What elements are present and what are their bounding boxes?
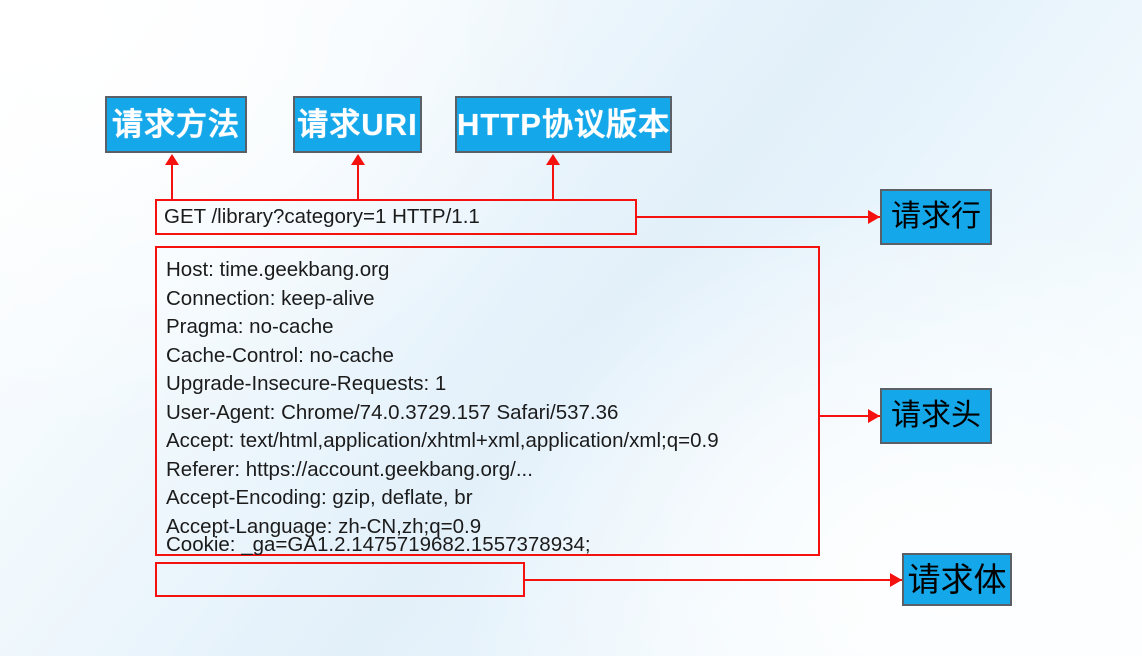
diagram-canvas: 请求方法 请求URI HTTP协议版本 GET /library?categor… xyxy=(0,0,1142,656)
label-request-line-text: 请求行 xyxy=(891,202,981,232)
label-request-method: 请求方法 xyxy=(105,96,247,153)
header-line: Accept: text/html,application/xhtml+xml,… xyxy=(166,427,719,456)
label-request-uri-text: 请求URI xyxy=(297,109,417,140)
header-line: Cache-Control: no-cache xyxy=(166,342,394,371)
label-request-body: 请求体 xyxy=(902,553,1012,606)
header-line: Upgrade-Insecure-Requests: 1 xyxy=(166,370,446,399)
arrow-head-method-icon xyxy=(165,154,179,165)
connector-line-version xyxy=(552,164,554,200)
header-line: Connection: keep-alive xyxy=(166,285,375,314)
arrow-head-request-body-icon xyxy=(890,573,902,587)
header-line: User-Agent: Chrome/74.0.3729.157 Safari/… xyxy=(166,399,618,428)
label-request-method-text: 请求方法 xyxy=(112,109,240,140)
connector-line-method xyxy=(171,164,173,200)
label-request-uri: 请求URI xyxy=(293,96,422,153)
arrow-head-uri-icon xyxy=(351,154,365,165)
label-request-headers: 请求头 xyxy=(880,388,992,444)
header-line: Cookie: _ga=GA1.2.1475719682.1557378934; xyxy=(166,531,591,560)
connector-line-uri xyxy=(357,164,359,200)
connector-line-request-body xyxy=(525,579,902,581)
label-http-version-text: HTTP协议版本 xyxy=(457,109,670,140)
arrow-head-request-headers-icon xyxy=(868,409,880,423)
request-body-box xyxy=(155,562,525,597)
label-request-line: 请求行 xyxy=(880,189,992,245)
arrow-head-request-line-icon xyxy=(868,210,880,224)
arrow-head-version-icon xyxy=(546,154,560,165)
request-line-text: GET /library?category=1 HTTP/1.1 xyxy=(164,205,480,229)
label-http-version: HTTP协议版本 xyxy=(455,96,672,153)
connector-line-request-line xyxy=(637,216,880,218)
label-request-headers-text: 请求头 xyxy=(891,401,981,431)
header-line: Pragma: no-cache xyxy=(166,313,334,342)
header-line: Host: time.geekbang.org xyxy=(166,256,389,285)
header-line: Accept-Encoding: gzip, deflate, br xyxy=(166,484,473,513)
header-line: Referer: https://account.geekbang.org/..… xyxy=(166,456,533,485)
label-request-body-text: 请求体 xyxy=(908,563,1007,596)
